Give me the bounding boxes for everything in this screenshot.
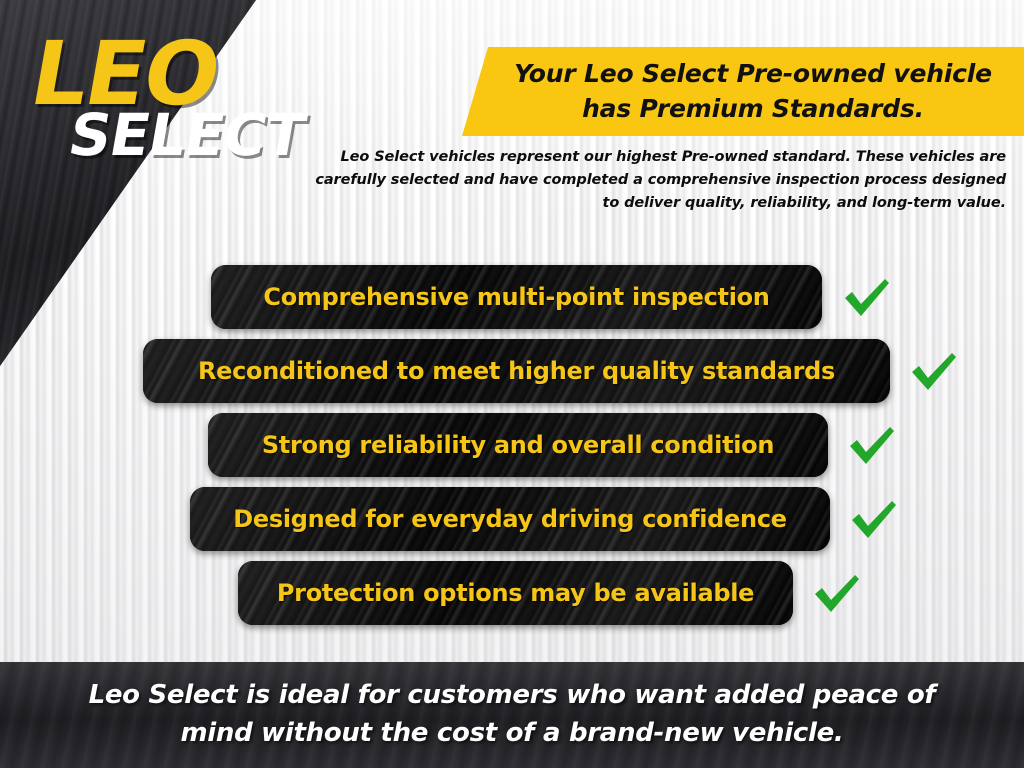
footer-line-1: Leo Select is ideal for customers who wa… — [89, 680, 936, 710]
feature-row: Designed for everyday driving confidence — [190, 487, 830, 551]
logo-text-leo: LEO — [26, 38, 321, 110]
feature-pill[interactable]: Strong reliability and overall condition — [208, 413, 828, 477]
feature-label: Comprehensive multi-point inspection — [245, 283, 787, 311]
check-mark-icon — [839, 273, 893, 321]
footer-line-2: mind without the cost of a brand-new veh… — [180, 718, 843, 748]
leo-select-promo-slide: LEO SELECT Your Leo Select Pre-owned veh… — [0, 0, 1024, 768]
feature-pill[interactable]: Reconditioned to meet higher quality sta… — [143, 339, 890, 403]
check-mark-icon — [844, 421, 898, 469]
headline-line-1: Your Leo Select Pre-owned vehicle — [514, 59, 992, 88]
check-mark-icon — [846, 495, 900, 543]
feature-pill[interactable]: Designed for everyday driving confidence — [190, 487, 830, 551]
feature-pill[interactable]: Comprehensive multi-point inspection — [211, 265, 822, 329]
feature-pill[interactable]: Protection options may be available — [238, 561, 793, 625]
feature-label: Strong reliability and overall condition — [244, 431, 792, 459]
headline-line-2: has Premium Standards. — [582, 94, 924, 123]
feature-row: Strong reliability and overall condition — [208, 413, 828, 477]
check-mark-icon — [809, 569, 863, 617]
footer-text: Leo Select is ideal for customers who wa… — [89, 677, 936, 752]
leo-select-logo: LEO SELECT — [17, 38, 321, 160]
feature-label: Protection options may be available — [259, 579, 772, 607]
feature-label: Reconditioned to meet higher quality sta… — [180, 357, 853, 385]
feature-label: Designed for everyday driving confidence — [215, 505, 804, 533]
footer-bar: Leo Select is ideal for customers who wa… — [0, 662, 1024, 768]
feature-row: Comprehensive multi-point inspection — [211, 265, 822, 329]
feature-row: Reconditioned to meet higher quality sta… — [143, 339, 890, 403]
check-mark-icon — [906, 347, 960, 395]
headline-banner: Your Leo Select Pre-owned vehicle has Pr… — [462, 47, 1024, 136]
headline-text: Your Leo Select Pre-owned vehicle has Pr… — [480, 57, 1006, 126]
logo-text-select: SELECT — [65, 112, 307, 160]
intro-paragraph: Leo Select vehicles represent our highes… — [310, 146, 1006, 215]
feature-row: Protection options may be available — [238, 561, 793, 625]
